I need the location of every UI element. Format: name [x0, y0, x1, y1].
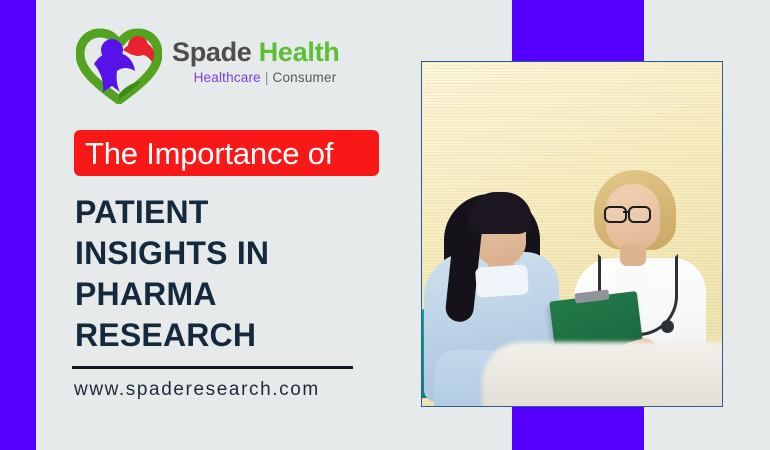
scene-foreground-desk [482, 342, 722, 406]
brand-tagline-separator: | [265, 70, 269, 85]
eyeglasses-icon [604, 206, 654, 219]
website-url[interactable]: www.spaderesearch.com [74, 379, 320, 401]
patient-hair-front [468, 192, 532, 234]
page-title-line-2: INSIGHTS IN [75, 233, 415, 274]
eyebrow-ribbon: The Importance of [74, 130, 379, 176]
patient-collar [475, 264, 529, 298]
page-title-line-3: PHARMA [75, 274, 415, 315]
brand-title-health: Health [259, 37, 340, 67]
poster-canvas: Spade Health Healthcare | Consumer The I… [0, 0, 770, 450]
brand-title: Spade Health [172, 38, 377, 66]
brand-tagline: Healthcare | Consumer [172, 70, 358, 85]
page-title: PATIENT INSIGHTS IN PHARMA RESEARCH [75, 192, 415, 356]
hero-photo-scene [422, 62, 722, 406]
eyeglasses-lens-left [604, 206, 627, 223]
brand-wordmark: Spade Health Healthcare | Consumer [172, 38, 377, 85]
eyeglasses-lens-right [628, 206, 651, 223]
eyebrow-text: The Importance of [74, 138, 333, 169]
brand-title-spade: Spade [172, 37, 252, 67]
brand-tagline-healthcare: Healthcare [194, 70, 261, 85]
hero-photo [421, 61, 723, 407]
page-title-line-1: PATIENT [75, 192, 415, 233]
left-accent-bar [0, 0, 36, 450]
page-title-line-4: RESEARCH [75, 315, 415, 356]
brand-logo[interactable]: Spade Health Healthcare | Consumer [76, 24, 376, 106]
stethoscope-bell [661, 320, 674, 333]
heart-with-two-people-icon [76, 24, 162, 104]
brand-tagline-consumer: Consumer [273, 70, 337, 85]
divider-rule [72, 366, 353, 369]
